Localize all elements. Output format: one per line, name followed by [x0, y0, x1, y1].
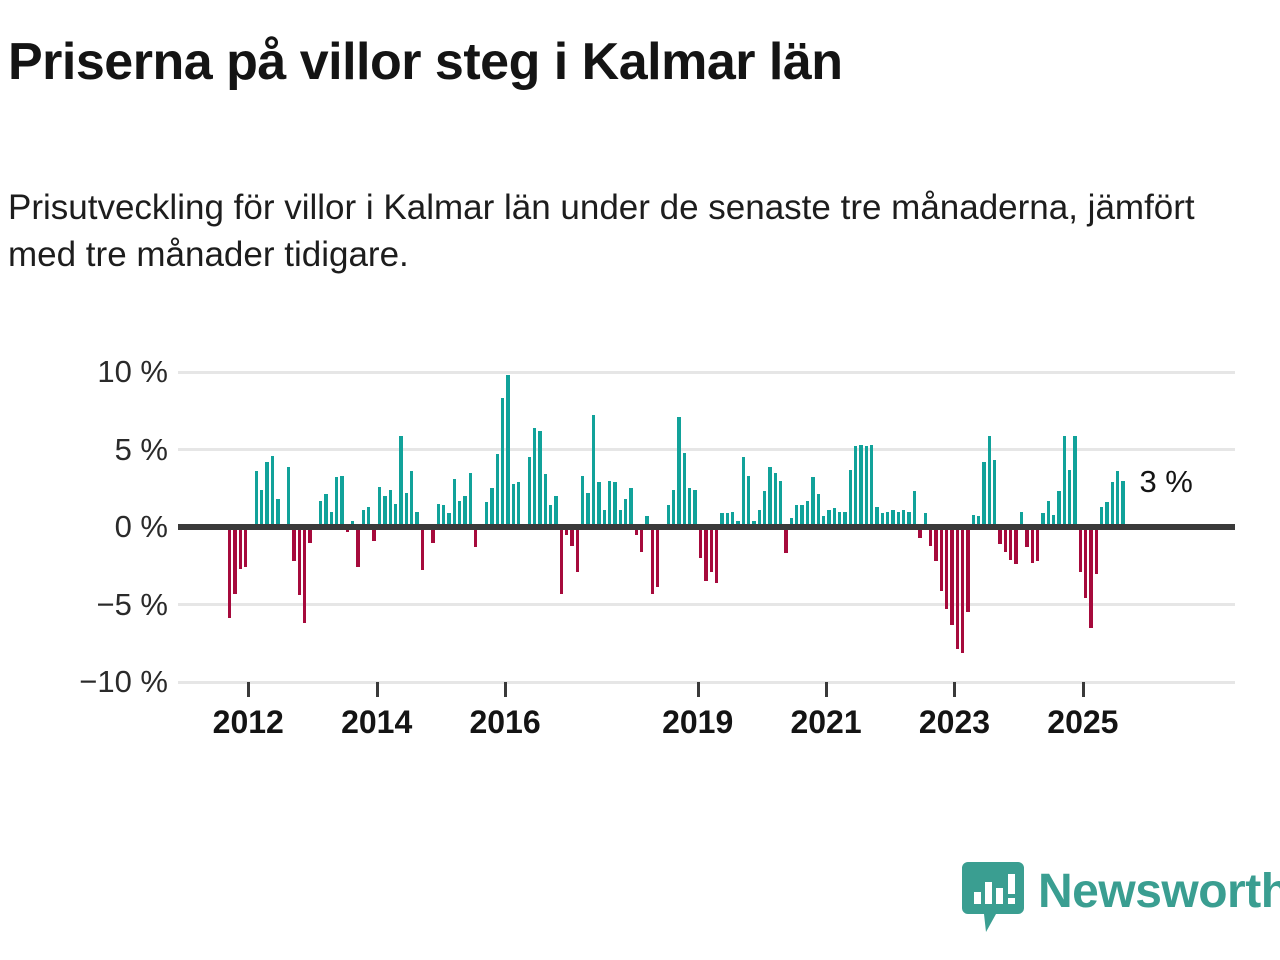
bar	[629, 488, 632, 527]
bar	[1057, 491, 1060, 527]
x-axis-tick-label: 2021	[761, 704, 891, 741]
x-axis-tick	[376, 682, 379, 697]
x-axis-tick	[1082, 682, 1085, 697]
bar	[528, 457, 531, 527]
bar	[276, 499, 279, 527]
bar	[934, 527, 937, 561]
bar	[811, 477, 814, 527]
bar	[1025, 527, 1028, 547]
bar	[560, 527, 563, 594]
bar	[490, 488, 493, 527]
bar	[303, 527, 306, 623]
y-axis-tick-label: 10 %	[28, 356, 168, 387]
bar	[613, 482, 616, 527]
bar	[597, 482, 600, 527]
bar	[849, 470, 852, 527]
x-axis-tick-label: 2016	[440, 704, 570, 741]
bar	[1014, 527, 1017, 564]
bar	[624, 499, 627, 527]
bar	[506, 375, 509, 527]
bar	[715, 527, 718, 583]
newsworthy-logo: Newsworthy	[962, 858, 1272, 936]
bar	[779, 481, 782, 528]
bar	[982, 462, 985, 527]
bar	[1121, 481, 1124, 528]
bar	[656, 527, 659, 587]
bar	[950, 527, 953, 625]
bar	[410, 471, 413, 527]
x-axis-tick	[825, 682, 828, 697]
bar	[389, 490, 392, 527]
bar	[640, 527, 643, 552]
bar	[956, 527, 959, 649]
chart-speech-bubble-icon	[962, 862, 1024, 934]
bar	[1068, 470, 1071, 527]
bar	[870, 445, 873, 527]
y-axis-tick-label: 0 %	[28, 511, 168, 542]
bar	[608, 481, 611, 528]
bar-chart: 10 %5 %0 %−5 %−10 % 20122014201620192021…	[0, 352, 1280, 752]
plot-area	[178, 372, 1235, 682]
x-axis-tick	[504, 682, 507, 697]
bar	[474, 527, 477, 547]
bar	[592, 415, 595, 527]
x-axis-tick	[247, 682, 250, 697]
bar	[1111, 482, 1114, 527]
last-value-annotation: 3 %	[1139, 464, 1192, 500]
bar	[1004, 527, 1007, 552]
bar	[335, 477, 338, 527]
x-axis: 2012201420162019202120232025	[178, 682, 1235, 742]
bar	[1089, 527, 1092, 628]
x-axis-tick-label: 2019	[633, 704, 763, 741]
bar	[961, 527, 964, 653]
bar	[228, 527, 231, 618]
bar	[544, 474, 547, 527]
bar	[710, 527, 713, 572]
bar	[378, 487, 381, 527]
bar	[651, 527, 654, 594]
bar	[693, 490, 696, 527]
bar	[469, 473, 472, 527]
bar	[1079, 527, 1082, 572]
bar	[1009, 527, 1012, 560]
bar	[1036, 527, 1039, 561]
bar	[292, 527, 295, 561]
bar	[356, 527, 359, 567]
bar	[672, 490, 675, 527]
bar	[496, 454, 499, 527]
bar	[405, 493, 408, 527]
bar	[784, 527, 787, 553]
bar	[859, 445, 862, 527]
bar	[704, 527, 707, 581]
y-axis-tick-label: 5 %	[28, 434, 168, 465]
brand-name: Newsworthy	[1038, 864, 1280, 919]
bar	[774, 473, 777, 527]
bar	[747, 476, 750, 527]
x-axis-tick	[697, 682, 700, 697]
bar	[763, 491, 766, 527]
bar	[324, 494, 327, 527]
bar	[512, 484, 515, 527]
bar	[298, 527, 301, 595]
bar	[501, 398, 504, 527]
infographic-page: Priserna på villor steg i Kalmar län Pri…	[0, 0, 1280, 960]
bar	[453, 479, 456, 527]
bar	[399, 436, 402, 527]
bar	[945, 527, 948, 609]
x-axis-tick-label: 2012	[183, 704, 313, 741]
bar	[287, 467, 290, 527]
bar	[260, 490, 263, 527]
bar	[271, 456, 274, 527]
bar	[966, 527, 969, 612]
bar	[517, 482, 520, 527]
page-subtitle: Prisutveckling för villor i Kalmar län u…	[8, 184, 1258, 279]
bar	[913, 491, 916, 527]
bar	[576, 527, 579, 572]
page-title: Priserna på villor steg i Kalmar län	[8, 34, 1272, 91]
bar	[581, 476, 584, 527]
bar	[239, 527, 242, 569]
bar	[768, 467, 771, 527]
x-axis-tick	[953, 682, 956, 697]
bar	[383, 496, 386, 527]
bar	[988, 436, 991, 527]
bar	[683, 453, 686, 527]
bar	[463, 496, 466, 527]
bar	[688, 488, 691, 527]
bar	[742, 457, 745, 527]
bar	[1063, 436, 1066, 527]
y-axis-tick-label: −10 %	[28, 666, 168, 697]
bar	[538, 431, 541, 527]
bar	[699, 527, 702, 558]
bar	[554, 496, 557, 527]
bar	[1084, 527, 1087, 598]
bar	[677, 417, 680, 527]
bar	[993, 460, 996, 527]
bar	[865, 446, 868, 527]
bar	[340, 476, 343, 527]
x-axis-tick-label: 2025	[1018, 704, 1148, 741]
bar	[817, 494, 820, 527]
bar	[586, 493, 589, 527]
bar	[421, 527, 424, 570]
y-axis-tick-label: −5 %	[28, 589, 168, 620]
bar	[265, 462, 268, 527]
zero-axis-line	[178, 524, 1235, 530]
bar	[533, 428, 536, 527]
x-axis-tick-label: 2023	[889, 704, 1019, 741]
bar	[1095, 527, 1098, 574]
bar	[1116, 471, 1119, 527]
bar	[255, 471, 258, 527]
bar	[1073, 436, 1076, 527]
bar	[233, 527, 236, 594]
bar	[940, 527, 943, 591]
bar	[1031, 527, 1034, 563]
x-axis-tick-label: 2014	[312, 704, 442, 741]
bar	[854, 446, 857, 527]
bar	[244, 527, 247, 567]
